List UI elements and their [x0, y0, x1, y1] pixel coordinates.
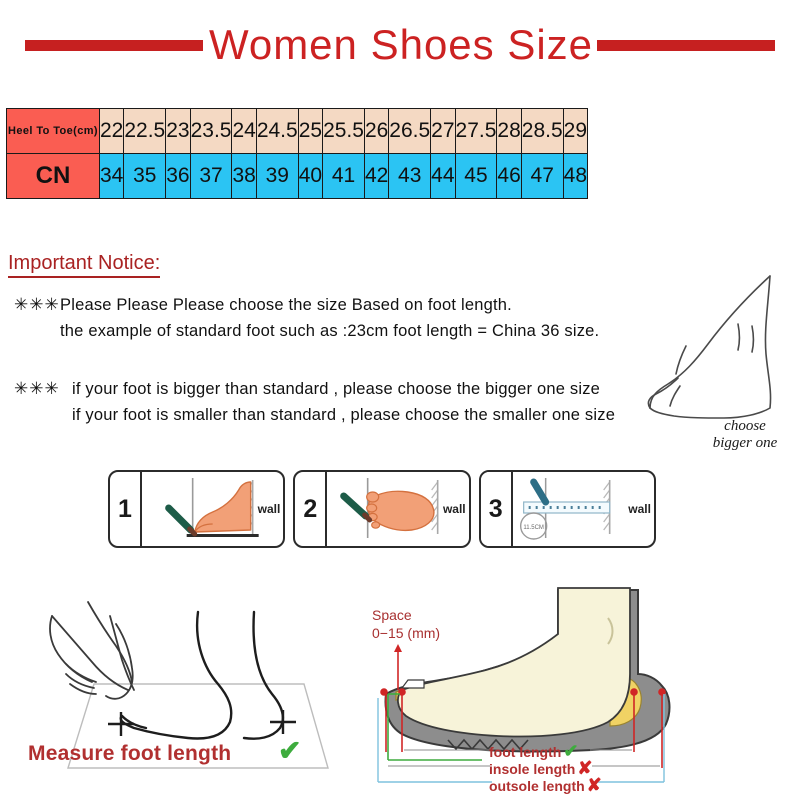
cell-cm: 26: [364, 109, 388, 154]
notice-block-2: ✳✳✳ if your foot is bigger than standard…: [14, 376, 615, 428]
cell-cm: 27: [431, 109, 455, 154]
cell-cn: 41: [323, 154, 365, 199]
notice-row: ✳✳✳ if your foot is bigger than standard…: [14, 376, 615, 402]
table-row-cn: CN 34 35 36 37 38 39 40 41 42 43 44 45 4…: [7, 154, 588, 199]
cell-cn: 44: [431, 154, 455, 199]
title-rule-right: [597, 40, 775, 51]
table-row-heel-to-toe: Heel To Toe(cm) 22 22.5 23 23.5 24 24.5 …: [7, 109, 588, 154]
cell-cm: 22: [100, 109, 124, 154]
cell-cn: 34: [100, 154, 124, 199]
step-number: 1: [110, 472, 142, 546]
caption-line-1: choose: [690, 418, 800, 435]
wall-label: wall: [443, 502, 466, 516]
cell-cm: 22.5: [124, 109, 166, 154]
cell-cn: 47: [521, 154, 563, 199]
cell-cm: 23: [166, 109, 190, 154]
label-text: outsole length: [489, 778, 585, 794]
space-gap-label: Space 0−15 (mm): [372, 606, 440, 642]
cell-cm: 28.5: [521, 109, 563, 154]
cell-cm: 29: [563, 109, 587, 154]
asterisk-bullet-icon: ✳✳✳: [14, 379, 72, 399]
step-panel-3: 3 11.: [479, 470, 656, 548]
cell-cn: 37: [190, 154, 232, 199]
notice-text: if your foot is smaller than standard , …: [14, 402, 615, 428]
red-cross-icon: ✘: [587, 775, 602, 796]
notice-row: ✳✳✳ Please Please Please choose the size…: [14, 292, 599, 318]
cell-cm: 23.5: [190, 109, 232, 154]
step-panel-1: 1 wall: [108, 470, 285, 548]
step-illustration-ruler: 3 11.: [481, 472, 654, 546]
step-illustration-sole-foot: wall: [327, 472, 468, 546]
important-notice-heading: Important Notice:: [8, 252, 160, 278]
notice-text: the example of standard foot such as :23…: [14, 318, 599, 344]
cell-cm: 25.5: [323, 109, 365, 154]
outsole-length-label: outsole length ✘: [489, 775, 602, 796]
cell-cm: 24: [232, 109, 256, 154]
notice-block-1: ✳✳✳ Please Please Please choose the size…: [14, 292, 599, 344]
cell-cn: 48: [563, 154, 587, 199]
measure-steps-panel: 1 wall 2: [108, 470, 656, 548]
cell-cn: 38: [232, 154, 256, 199]
svg-text:11.5CM: 11.5CM: [523, 525, 544, 531]
step-illustration-side-foot: wall: [142, 472, 283, 546]
cell-cm: 26.5: [389, 109, 431, 154]
wall-label: wall: [258, 502, 281, 516]
cell-cn: 40: [298, 154, 322, 199]
foot-profile-illustration: [642, 268, 794, 438]
step-number: 2: [295, 472, 327, 546]
cell-cn: 35: [124, 154, 166, 199]
row-header-heel-to-toe: Heel To Toe(cm): [7, 109, 100, 154]
cell-cn: 45: [455, 154, 497, 199]
cell-cn: 46: [497, 154, 521, 199]
measure-foot-length-caption: Measure foot length: [28, 742, 231, 766]
page-title-bar: Women Shoes Size: [0, 18, 800, 72]
asterisk-bullet-icon: ✳✳✳: [14, 295, 60, 315]
notice-text: Please Please Please choose the size Bas…: [60, 292, 512, 318]
step-panel-2: 2 wall: [293, 470, 470, 548]
caption-line-2: bigger one: [690, 435, 800, 452]
cell-cn: 36: [166, 154, 190, 199]
size-chart-table: Heel To Toe(cm) 22 22.5 23 23.5 24 24.5 …: [6, 108, 588, 199]
choose-bigger-one-caption: choose bigger one: [690, 418, 800, 452]
page-title: Women Shoes Size: [209, 24, 593, 66]
green-check-icon: ✔: [278, 737, 301, 765]
cell-cn: 43: [389, 154, 431, 199]
row-header-cn: CN: [7, 154, 100, 199]
step-number: 3: [481, 472, 513, 546]
wall-label: wall: [628, 502, 651, 516]
cell-cm: 28: [497, 109, 521, 154]
cell-cm: 27.5: [455, 109, 497, 154]
title-rule-left: [25, 40, 203, 51]
notice-text: if your foot is bigger than standard , p…: [72, 376, 600, 402]
cell-cm: 24.5: [256, 109, 298, 154]
cell-cn: 39: [256, 154, 298, 199]
cell-cn: 42: [364, 154, 388, 199]
cell-cm: 25: [298, 109, 322, 154]
space-label-line-2: 0−15 (mm): [372, 624, 440, 642]
space-label-line-1: Space: [372, 606, 440, 624]
